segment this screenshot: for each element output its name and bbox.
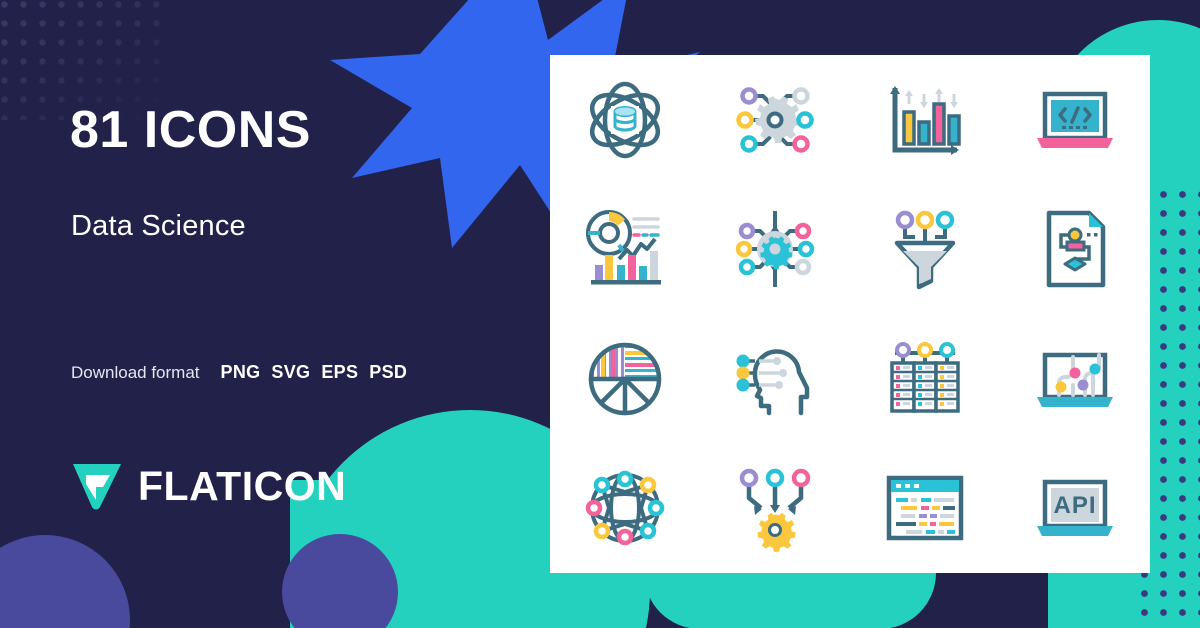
format-eps[interactable]: EPS	[321, 362, 358, 383]
brand-logo[interactable]: FLATICON	[70, 460, 346, 512]
laptop-code-icon	[1029, 74, 1121, 166]
format-psd[interactable]: PSD	[369, 362, 407, 383]
icon-cell-document-flowchart[interactable]	[1000, 185, 1150, 315]
server-racks-icon	[879, 333, 971, 425]
monitor-circuit-icon	[1029, 333, 1121, 425]
icon-cell-server-racks[interactable]	[850, 314, 1000, 444]
icon-cell-gear-data-flow[interactable]	[700, 185, 850, 315]
laptop-api-icon: API	[1029, 462, 1121, 554]
format-list: PNG SVG EPS PSD	[221, 362, 408, 383]
icon-cell-network-globe[interactable]	[550, 444, 700, 574]
atom-database-icon	[579, 74, 671, 166]
format-svg[interactable]: SVG	[271, 362, 310, 383]
network-globe-icon	[579, 462, 671, 554]
format-png[interactable]: PNG	[221, 362, 261, 383]
icon-cell-pie-chart-stripes[interactable]	[550, 314, 700, 444]
icon-cell-head-neural-network[interactable]	[700, 314, 850, 444]
data-funnel-icon	[879, 203, 971, 295]
icon-grid-card: API	[550, 55, 1150, 573]
download-format-label: Download format	[71, 363, 200, 383]
gear-data-flow-icon	[729, 203, 821, 295]
gear-network-icon	[729, 74, 821, 166]
head-neural-network-icon	[729, 333, 821, 425]
icon-cell-bar-chart-arrows[interactable]	[850, 55, 1000, 185]
bar-chart-arrows-icon	[879, 74, 971, 166]
icon-cell-data-funnel[interactable]	[850, 185, 1000, 315]
page-title: 81 ICONS	[70, 104, 311, 156]
icon-cell-code-window[interactable]	[850, 444, 1000, 574]
icon-cell-monitor-circuit[interactable]	[1000, 314, 1150, 444]
brand-name: FLATICON	[138, 466, 346, 507]
code-window-icon	[879, 462, 971, 554]
icon-cell-laptop-code[interactable]	[1000, 55, 1150, 185]
poster-canvas: 81 ICONS Data Science Download format PN…	[0, 0, 1200, 628]
flaticon-logo-mark-icon	[70, 460, 124, 512]
page-subtitle: Data Science	[71, 212, 246, 241]
download-format-row: Download format PNG SVG EPS PSD	[71, 362, 407, 383]
pie-chart-stripes-icon	[579, 333, 671, 425]
icon-cell-analytics-dashboard[interactable]	[550, 185, 700, 315]
icon-cell-data-input-gear[interactable]	[700, 444, 850, 574]
info-panel: 81 ICONS Data Science Download format PN…	[0, 0, 550, 628]
icon-cell-atom-database[interactable]	[550, 55, 700, 185]
icon-cell-gear-network[interactable]	[700, 55, 850, 185]
document-flowchart-icon	[1029, 203, 1121, 295]
data-input-gear-icon	[729, 462, 821, 554]
svg-text:API: API	[1053, 492, 1096, 519]
analytics-dashboard-icon	[579, 203, 671, 295]
icon-cell-laptop-api[interactable]: API	[1000, 444, 1150, 574]
